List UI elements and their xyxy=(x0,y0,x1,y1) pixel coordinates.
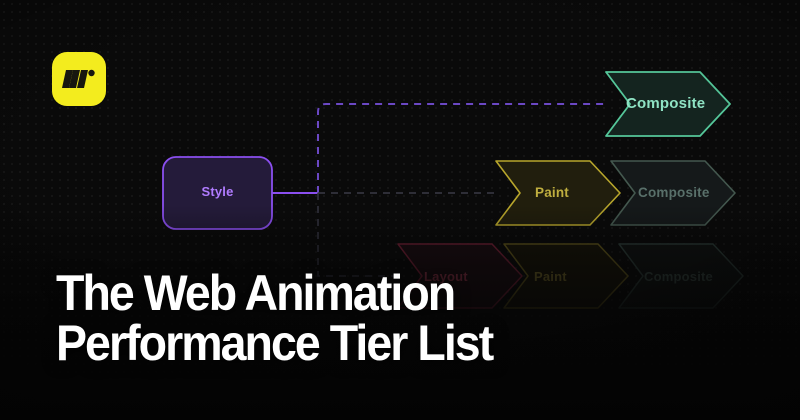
chevron-composite-mid[interactable] xyxy=(611,161,735,225)
best-tier-row xyxy=(606,72,730,136)
chevron-composite-best[interactable] xyxy=(606,72,730,136)
chevron-paint-mid[interactable] xyxy=(496,161,620,225)
mojo-logo-icon xyxy=(62,67,96,91)
page-title-line-1: The Web Animation xyxy=(56,269,492,319)
page-title: The Web Animation Performance Tier List xyxy=(56,269,492,368)
poster-canvas: Style Composite Paint Composite Layout P… xyxy=(0,0,800,420)
connector-to-layout xyxy=(318,193,398,276)
chevron-composite-worst[interactable] xyxy=(619,244,743,308)
mid-tier-row xyxy=(496,161,735,225)
style-node-box[interactable] xyxy=(163,157,272,229)
brand-logo[interactable] xyxy=(52,52,106,106)
style-node[interactable] xyxy=(163,157,272,229)
page-title-line-2: Performance Tier List xyxy=(56,319,492,369)
